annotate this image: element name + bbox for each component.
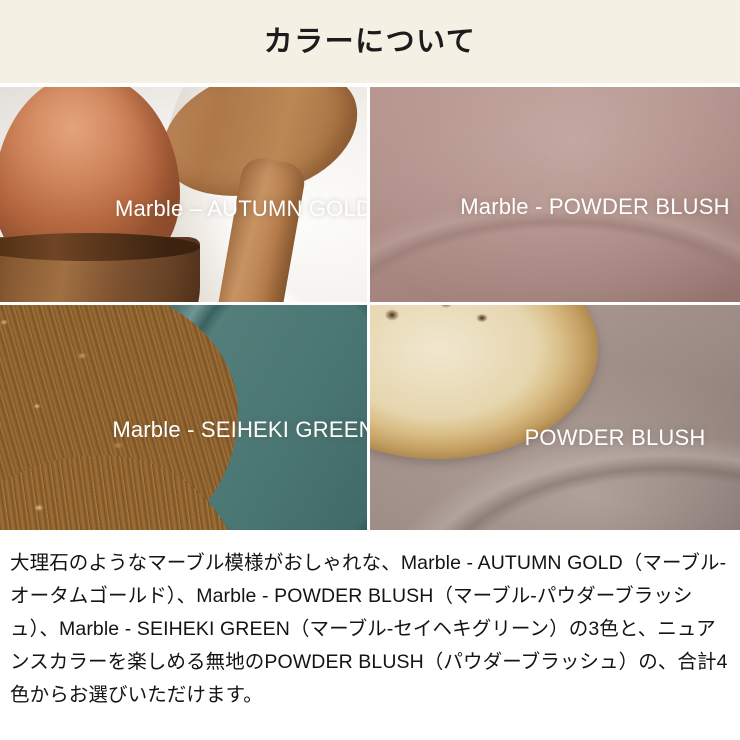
plate-rim-shape (370, 164, 740, 305)
color-variation-gallery: Marble – AUTUMN GOLD Marble - POWDER BLU… (0, 87, 740, 530)
gallery-item-powder-blush[interactable]: POWDER BLUSH (370, 305, 740, 530)
product-photo-powder-blush (370, 305, 740, 530)
gallery-item-autumn-gold[interactable]: Marble – AUTUMN GOLD (0, 87, 370, 305)
gallery-caption: Marble - SEIHEKI GREEN (60, 416, 370, 444)
chocolate-chunks-shape (370, 305, 578, 375)
section-header: カラーについて (0, 0, 740, 83)
gallery-caption: Marble – AUTUMN GOLD (60, 195, 370, 223)
gallery-item-marble-powder-blush[interactable]: Marble - POWDER BLUSH (370, 87, 740, 305)
color-description-text: 大理石のようなマーブル模様がおしゃれな、Marble - AUTUMN GOLD… (10, 547, 732, 712)
gallery-item-seiheki-green[interactable]: Marble - SEIHEKI GREEN (0, 305, 370, 530)
color-info-section: カラーについて Marble – AUTUMN GOLD Marble - PO… (0, 0, 740, 740)
gallery-caption: POWDER BLUSH (430, 424, 740, 452)
page-title: カラーについて (264, 28, 477, 57)
gallery-caption: Marble - POWDER BLUSH (410, 193, 740, 221)
